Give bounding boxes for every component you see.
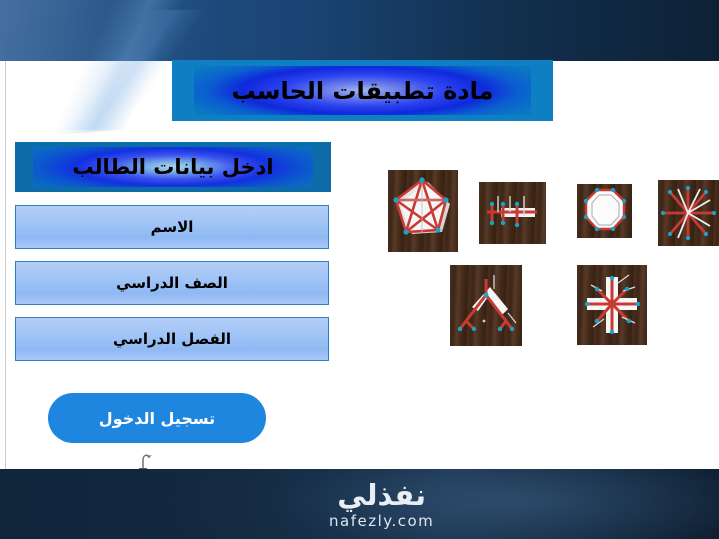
- left-vertical-rule: [5, 61, 6, 471]
- thumbnail-horizontal-bar-linkage[interactable]: [479, 182, 546, 244]
- top-decorative-banner: [0, 0, 719, 61]
- watermark-arabic: نفذلي: [329, 481, 434, 510]
- slide-canvas: مادة تطبيقات الحاسب ادخل بيانات الطالب ا…: [0, 0, 719, 539]
- grade-level-field[interactable]: الصف الدراسي: [15, 261, 329, 305]
- thumbnail-pentagon-with-diagonals[interactable]: [388, 170, 458, 252]
- semester-label: الفصل الدراسي: [113, 330, 231, 348]
- form-header-banner: ادخل بيانات الطالب: [15, 142, 331, 192]
- thumbnail-cross-with-arrows[interactable]: [577, 265, 647, 345]
- login-button[interactable]: تسجيل الدخول: [48, 393, 266, 443]
- watermark: نفذلي nafezly.com: [329, 481, 434, 530]
- thumbnail-octagon-outline[interactable]: [577, 184, 632, 238]
- slide-title-banner: مادة تطبيقات الحاسب: [172, 60, 553, 121]
- watermark-latin: nafezly.com: [329, 512, 434, 530]
- login-button-label: تسجيل الدخول: [99, 409, 215, 428]
- student-name-label: الاسم: [151, 218, 194, 236]
- thumbnail-radial-starburst[interactable]: [658, 180, 719, 246]
- student-name-field[interactable]: الاسم: [15, 205, 329, 249]
- grade-level-label: الصف الدراسي: [116, 274, 228, 292]
- thumbnail-angled-arch-linkage[interactable]: [450, 265, 522, 346]
- semester-field[interactable]: الفصل الدراسي: [15, 317, 329, 361]
- page-title: مادة تطبيقات الحاسب: [231, 77, 493, 105]
- form-header-label: ادخل بيانات الطالب: [72, 155, 273, 179]
